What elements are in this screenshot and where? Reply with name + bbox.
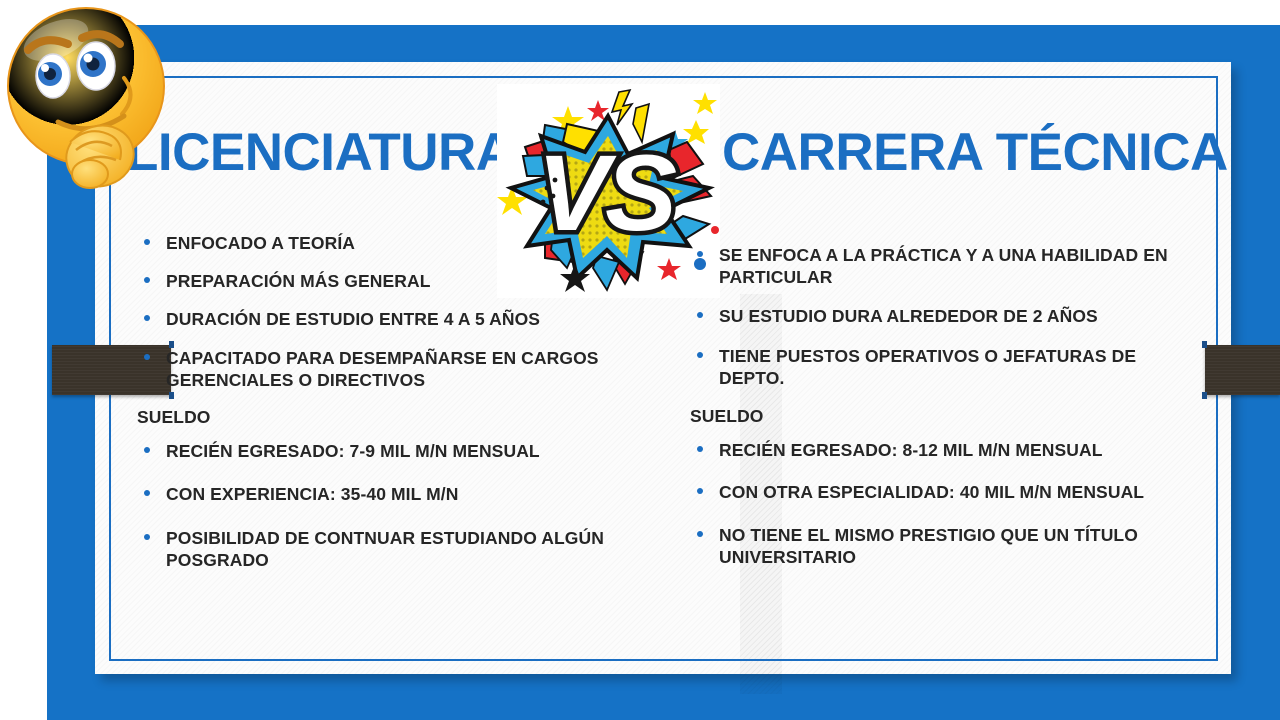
left-salary-list: RECIÉN EGRESADO: 7-9 MIL M/N MENSUAL CON… (133, 440, 643, 571)
list-item: DURACIÓN DE ESTUDIO ENTRE 4 A 5 AÑOS (133, 308, 643, 330)
right-salary-heading: SUELDO (690, 406, 1206, 427)
left-column: ENFOCADO A TEORÍA PREPARACIÓN MÁS GENERA… (133, 232, 643, 592)
list-item: CON EXPERIENCIA: 35-40 MIL M/N (133, 483, 643, 505)
list-item: SE ENFOCA A LA PRÁCTICA Y A UNA HABILIDA… (686, 244, 1206, 288)
list-item: NO TIENE EL MISMO PRESTIGIO QUE UN TÍTUL… (686, 524, 1206, 568)
list-item: RECIÉN EGRESADO: 7-9 MIL M/N MENSUAL (133, 440, 643, 462)
left-feature-list: ENFOCADO A TEORÍA PREPARACIÓN MÁS GENERA… (133, 232, 643, 391)
right-column: SE ENFOCA A LA PRÁCTICA Y A UNA HABILIDA… (686, 244, 1206, 588)
list-item: RECIÉN EGRESADO: 8-12 MIL M/N MENSUAL (686, 439, 1206, 461)
right-side-tab (1205, 345, 1280, 395)
slide-canvas: LICENCIATURA CARRERA TÉCNICA (0, 0, 1280, 720)
list-item: ENFOCADO A TEORÍA (133, 232, 643, 254)
thinking-face-emoji (0, 4, 188, 194)
list-item: CAPACITADO PARA DESEMPAÑARSE EN CARGOS G… (133, 347, 643, 391)
list-item: PREPARACIÓN MÁS GENERAL (133, 270, 643, 292)
list-item: POSIBILIDAD DE CONTNUAR ESTUDIANDO ALGÚN… (133, 527, 643, 571)
left-salary-heading: SUELDO (137, 407, 643, 428)
right-salary-list: RECIÉN EGRESADO: 8-12 MIL M/N MENSUAL CO… (686, 439, 1206, 568)
title-carrera-tecnica: CARRERA TÉCNICA (722, 126, 1228, 179)
right-feature-list: SE ENFOCA A LA PRÁCTICA Y A UNA HABILIDA… (686, 244, 1206, 389)
list-item: CON OTRA ESPECIALIDAD: 40 MIL M/N MENSUA… (686, 481, 1206, 503)
list-item: TIENE PUESTOS OPERATIVOS O JEFATURAS DE … (686, 345, 1206, 389)
list-item: SU ESTUDIO DURA ALREDEDOR DE 2 AÑOS (686, 305, 1206, 327)
